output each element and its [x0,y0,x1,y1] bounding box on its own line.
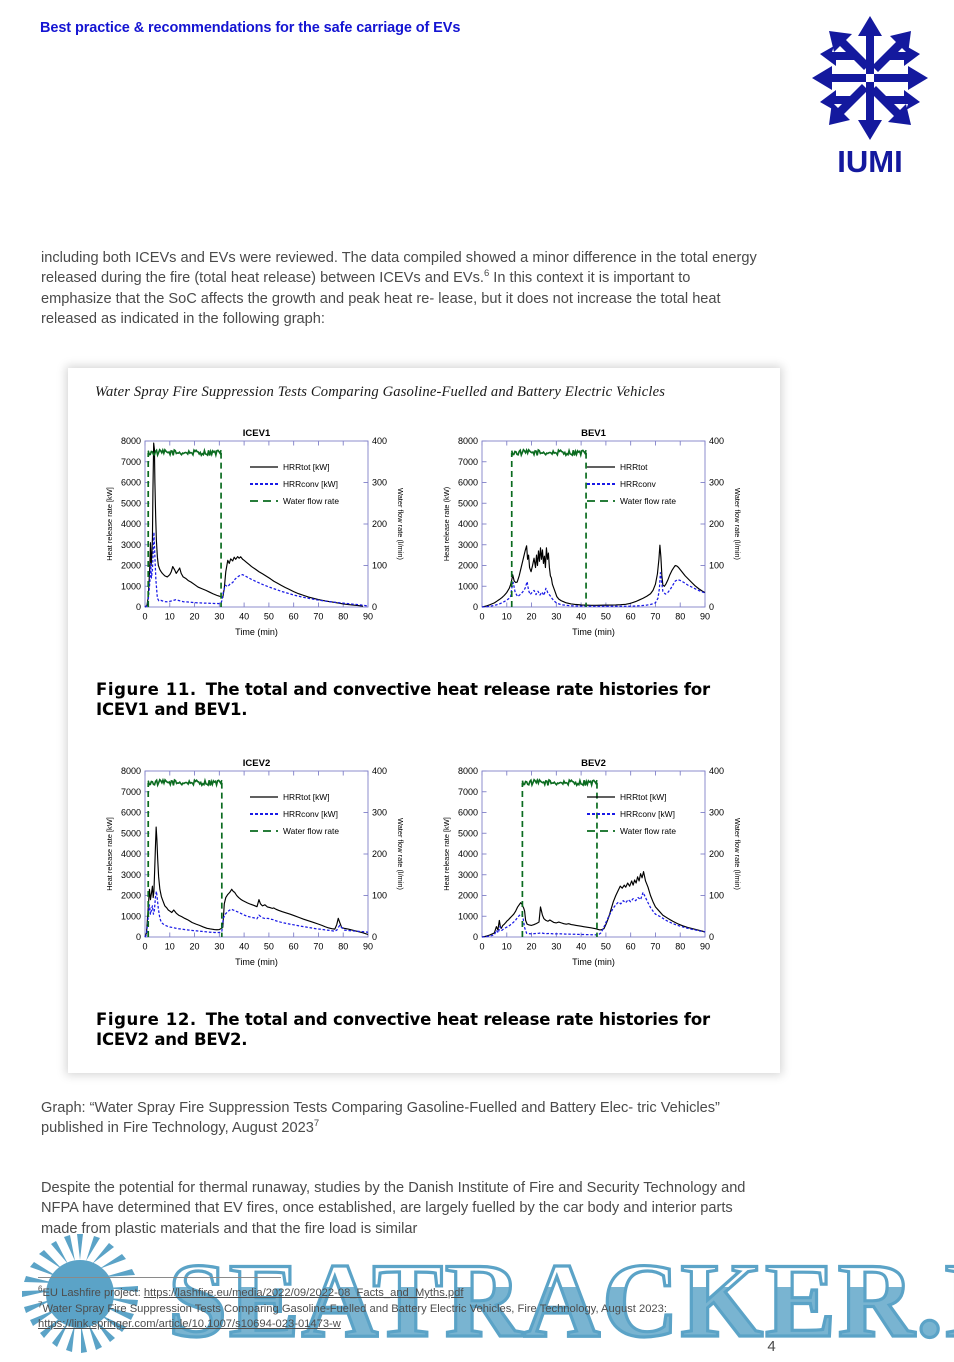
svg-text:6000: 6000 [121,478,141,488]
footnote-item-6: 6EU Lashfire project: https://lashfire.e… [38,1286,783,1302]
svg-text:40: 40 [239,942,249,952]
svg-text:90: 90 [700,612,710,622]
iumi-wordmark: IUMI [810,144,930,180]
svg-text:Time (min): Time (min) [572,957,615,967]
svg-text:10: 10 [165,942,175,952]
despite-paragraph: Despite the potential for thermal runawa… [41,1178,757,1239]
svg-text:5000: 5000 [458,498,478,508]
svg-text:HRRtot [kW]: HRRtot [kW] [620,792,667,802]
svg-text:70: 70 [650,612,660,622]
svg-text:8000: 8000 [121,766,141,776]
svg-text:Time (min): Time (min) [235,957,278,967]
svg-text:10: 10 [165,612,175,622]
figure-11-caption: Figure 11.The total and convective heat … [96,680,746,719]
svg-text:Heat release rate [kW]: Heat release rate [kW] [105,817,114,891]
svg-text:6000: 6000 [121,808,141,818]
svg-text:400: 400 [372,766,387,776]
svg-text:20: 20 [190,612,200,622]
svg-text:HRRconv [kW]: HRRconv [kW] [283,809,338,819]
svg-text:40: 40 [239,612,249,622]
figure-12-number: Figure 12. [96,1010,197,1029]
svg-text:40: 40 [576,612,586,622]
svg-text:0: 0 [479,612,484,622]
svg-text:Water flow rate: Water flow rate [620,826,676,836]
svg-text:5000: 5000 [458,828,478,838]
svg-text:HRRtot [kW]: HRRtot [kW] [283,462,330,472]
svg-text:1000: 1000 [121,911,141,921]
figure-11-number: Figure 11. [96,680,197,699]
svg-text:BEV1: BEV1 [581,428,607,439]
footnote-separator [38,1277,281,1278]
svg-text:Heat release rate [kW]: Heat release rate [kW] [442,817,451,891]
page-header-title: Best practice & recommendations for the … [40,20,460,36]
svg-text:0: 0 [136,602,141,612]
svg-text:30: 30 [214,612,224,622]
svg-text:2000: 2000 [458,891,478,901]
footnote-7-text: Water Spray Fire Suppression Tests Compa… [42,1303,667,1315]
svg-text:Water flow rate (l/min): Water flow rate (l/min) [396,818,405,890]
svg-text:HRRtot: HRRtot [620,462,648,472]
svg-text:3000: 3000 [121,540,141,550]
svg-text:400: 400 [709,766,724,776]
svg-text:50: 50 [601,612,611,622]
figure-container: Water Spray Fire Suppression Tests Compa… [68,368,780,1073]
svg-text:3000: 3000 [458,870,478,880]
svg-text:4000: 4000 [458,849,478,859]
svg-text:70: 70 [313,942,323,952]
svg-text:Time (min): Time (min) [572,627,615,637]
svg-text:30: 30 [551,942,561,952]
footnote-6-text: EU Lashfire project: [42,1287,143,1299]
iumi-star-logo: IUMI [810,14,930,189]
svg-text:3000: 3000 [458,540,478,550]
graph-credit-paragraph: Graph: “Water Spray Fire Suppression Tes… [41,1098,757,1139]
svg-text:60: 60 [289,612,299,622]
svg-text:300: 300 [372,478,387,488]
footnote-marker-7: 7 [314,1119,319,1130]
figure-title: Water Spray Fire Suppression Tests Compa… [95,384,665,401]
svg-text:1000: 1000 [458,581,478,591]
svg-text:2000: 2000 [458,561,478,571]
svg-text:8000: 8000 [458,436,478,446]
footnote-item-7: 7Water Spray Fire Suppression Tests Comp… [38,1302,783,1333]
chart-bev1: BEV1010203040506070809001000200030004000… [420,423,765,673]
svg-text:30: 30 [551,612,561,622]
intro-paragraph: including both ICEVs and EVs were review… [41,248,757,330]
svg-text:2000: 2000 [121,891,141,901]
svg-text:4000: 4000 [121,849,141,859]
svg-text:0: 0 [142,612,147,622]
svg-text:0: 0 [709,602,714,612]
svg-text:Heat release rate [kW]: Heat release rate [kW] [105,487,114,561]
svg-text:0: 0 [372,602,377,612]
svg-text:100: 100 [709,891,724,901]
svg-text:20: 20 [527,612,537,622]
despite-line-1: Despite the potential for thermal runawa… [41,1180,639,1196]
svg-text:90: 90 [363,612,373,622]
figure-12-caption: Figure 12.The total and convective heat … [96,1010,746,1049]
svg-text:0: 0 [142,942,147,952]
svg-text:6000: 6000 [458,808,478,818]
svg-text:200: 200 [372,519,387,529]
svg-text:200: 200 [709,519,724,529]
svg-text:90: 90 [363,942,373,952]
svg-text:4000: 4000 [121,519,141,529]
svg-text:10: 10 [502,942,512,952]
svg-text:0: 0 [372,932,377,942]
graph-credit-line-1: Graph: “Water Spray Fire Suppression Tes… [41,1100,633,1116]
footnote-7-link[interactable]: https://link.springer.com/article/10.100… [38,1318,341,1330]
svg-text:0: 0 [479,942,484,952]
svg-text:Water flow rate: Water flow rate [283,496,339,506]
svg-text:1000: 1000 [458,911,478,921]
svg-text:ICEV1: ICEV1 [243,428,271,439]
svg-text:80: 80 [338,612,348,622]
svg-text:80: 80 [675,612,685,622]
svg-text:90: 90 [700,942,710,952]
svg-text:80: 80 [338,942,348,952]
svg-text:300: 300 [709,478,724,488]
svg-text:50: 50 [601,942,611,952]
svg-text:5000: 5000 [121,828,141,838]
svg-text:300: 300 [709,808,724,818]
svg-text:60: 60 [626,942,636,952]
svg-text:70: 70 [313,612,323,622]
svg-text:7000: 7000 [121,457,141,467]
chart-bev2: BEV2010203040506070809001000200030004000… [420,753,765,1003]
svg-text:7000: 7000 [121,787,141,797]
svg-text:HRRconv [kW]: HRRconv [kW] [283,479,338,489]
svg-text:Water flow rate (l/min): Water flow rate (l/min) [396,488,405,560]
svg-text:100: 100 [372,891,387,901]
svg-text:BEV2: BEV2 [581,758,606,769]
svg-text:20: 20 [527,942,537,952]
svg-text:Water flow rate (l/min): Water flow rate (l/min) [733,488,742,560]
svg-text:Time (min): Time (min) [235,627,278,637]
svg-text:200: 200 [709,849,724,859]
svg-text:100: 100 [372,561,387,571]
svg-text:60: 60 [289,942,299,952]
svg-text:0: 0 [136,932,141,942]
chart-icev2: ICEV201020304050607080900100020003000400… [83,753,428,1003]
svg-text:HRRtot [kW]: HRRtot [kW] [283,792,330,802]
svg-text:Water flow rate: Water flow rate [620,496,676,506]
svg-text:50: 50 [264,942,274,952]
svg-text:Water flow rate (l/min): Water flow rate (l/min) [733,818,742,890]
svg-text:200: 200 [372,849,387,859]
svg-text:30: 30 [214,942,224,952]
svg-text:Heat release rate (kW): Heat release rate (kW) [442,487,451,561]
svg-text:400: 400 [709,436,724,446]
footnotes-block: 6EU Lashfire project: https://lashfire.e… [38,1286,783,1333]
svg-text:1000: 1000 [121,581,141,591]
svg-text:20: 20 [190,942,200,952]
svg-text:40: 40 [576,942,586,952]
svg-text:7000: 7000 [458,457,478,467]
svg-text:7000: 7000 [458,787,478,797]
svg-text:60: 60 [626,612,636,622]
intro-line-1: including both ICEVs and EVs were review… [41,250,637,266]
svg-text:ICEV2: ICEV2 [243,758,270,769]
svg-text:400: 400 [372,436,387,446]
svg-text:8000: 8000 [458,766,478,776]
svg-text:80: 80 [675,942,685,952]
chart-icev1: ICEV101020304050607080900100020003000400… [83,423,428,673]
svg-text:0: 0 [473,602,478,612]
footnote-marker-6: 6 [484,269,489,280]
svg-text:6000: 6000 [458,478,478,488]
svg-text:3000: 3000 [121,870,141,880]
svg-text:0: 0 [709,932,714,942]
svg-text:50: 50 [264,612,274,622]
svg-text:8000: 8000 [121,436,141,446]
svg-text:0: 0 [473,932,478,942]
svg-text:300: 300 [372,808,387,818]
svg-text:4000: 4000 [458,519,478,529]
svg-text:Water flow rate: Water flow rate [283,826,339,836]
page-number: 4 [0,1338,954,1355]
svg-text:HRRconv: HRRconv [620,479,657,489]
footnote-6-link[interactable]: https://lashfire.eu/media/2022/09/2022-0… [144,1287,464,1299]
svg-text:100: 100 [709,561,724,571]
document-page: Best practice & recommendations for the … [0,0,954,1362]
svg-text:HRRconv [kW]: HRRconv [kW] [620,809,675,819]
svg-text:10: 10 [502,612,512,622]
svg-text:70: 70 [650,942,660,952]
svg-text:5000: 5000 [121,498,141,508]
svg-text:2000: 2000 [121,561,141,571]
